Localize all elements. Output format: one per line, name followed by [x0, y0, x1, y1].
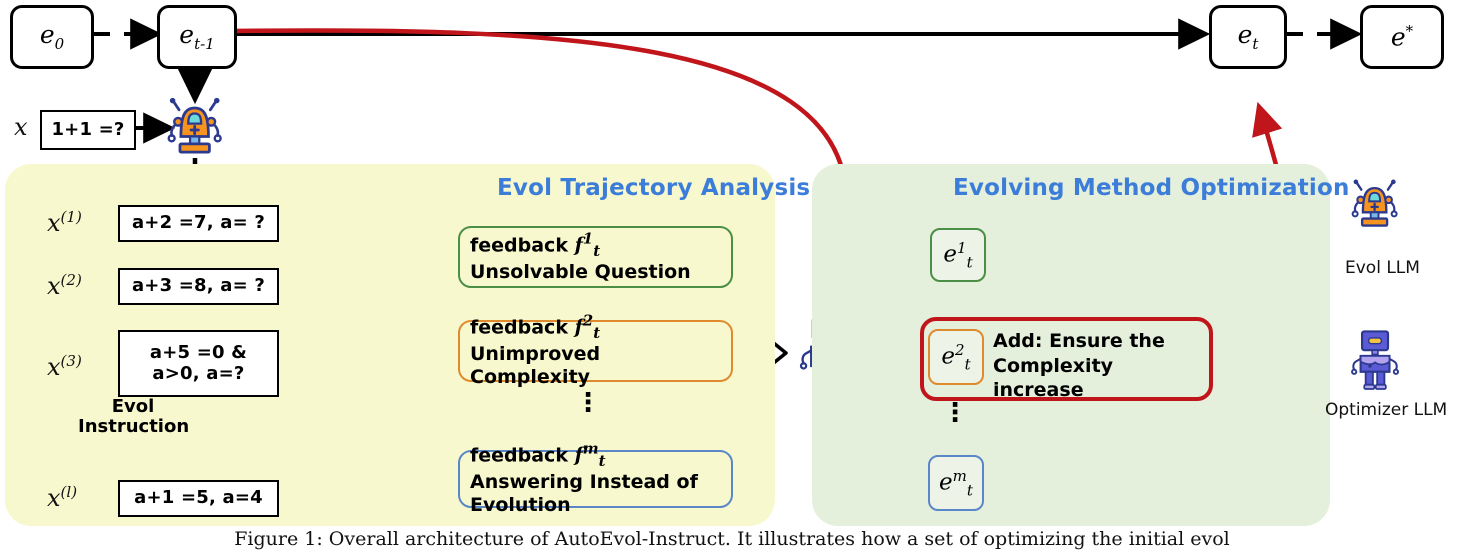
legend-evol-llm-robot-icon: [1353, 180, 1397, 226]
legend-icon-layer: [0, 0, 1464, 550]
figure-caption: Figure 1: Overall architecture of AutoEv…: [0, 528, 1464, 550]
legend-label-optimizer-llm: Optimizer LLM: [1325, 400, 1447, 420]
diagram-canvas: e0 et-1 et e* x 1+1 =? Evol Trajectory A…: [0, 0, 1464, 550]
legend-label-evol-llm: Evol LLM: [1345, 258, 1420, 278]
legend-optimizer-llm-robot-icon: [1352, 331, 1398, 389]
